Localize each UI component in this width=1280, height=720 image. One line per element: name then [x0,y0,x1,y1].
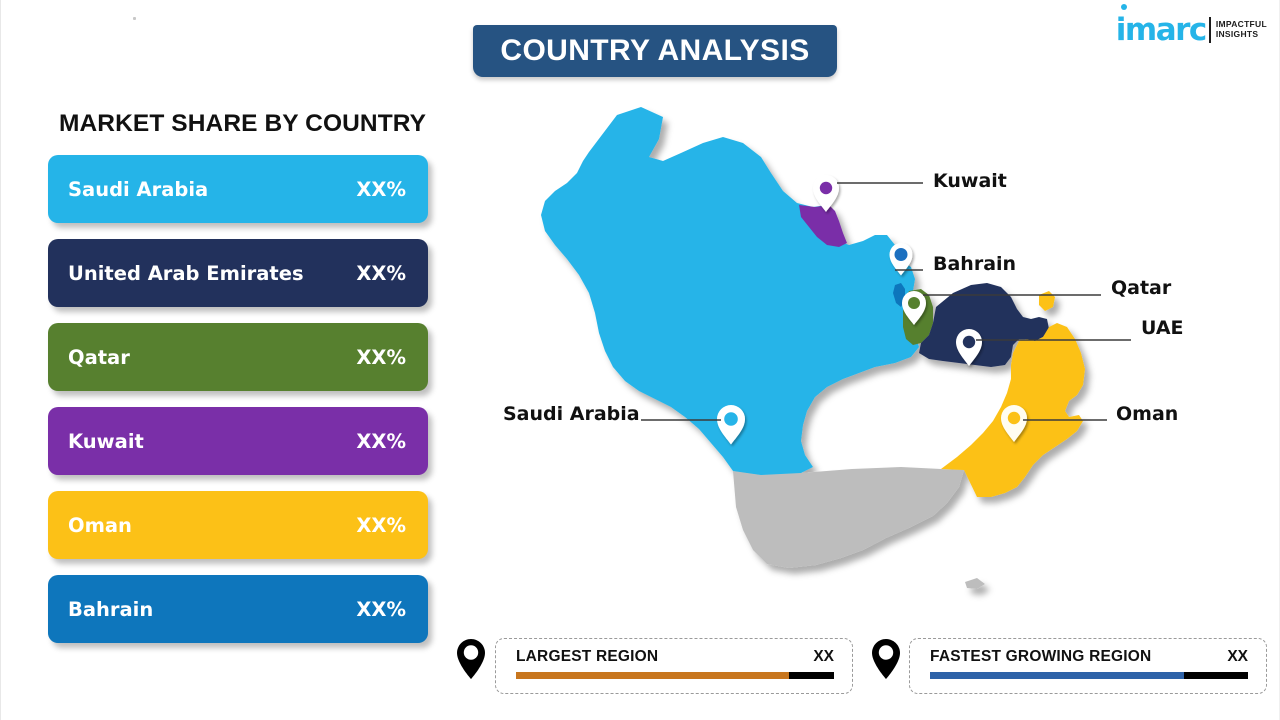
country-name: Oman [68,514,356,537]
fastest-growing-region-progress-fill [930,672,1184,679]
country-value: XX% [356,598,406,621]
country-bar-bahrain[interactable]: Bahrain XX% [48,575,428,643]
country-name: Qatar [68,346,356,369]
largest-region-progress-track [516,672,834,679]
map-label-saudi-arabia: Saudi Arabia [503,403,640,425]
fastest-growing-region-row: FASTEST GROWING REGION XX [930,648,1248,666]
country-bar-oman[interactable]: Oman XX% [48,491,428,559]
fastest-growing-region-box: FASTEST GROWING REGION XX [909,638,1267,694]
map-region-oman-musandam [1039,291,1055,311]
logo-divider [1209,17,1211,43]
map-label-oman: Oman [1116,403,1178,425]
largest-region-progress-fill [516,672,789,679]
largest-region-box: LARGEST REGION XX [495,638,853,694]
largest-region-row: LARGEST REGION XX [516,648,834,666]
country-value: XX% [356,262,406,285]
imarc-logo: imarc IMPACTFUL INSIGHTS [1116,10,1267,50]
fastest-growing-region-value: XX [1227,648,1248,666]
country-value: XX% [356,430,406,453]
page-title-banner: COUNTRY ANALYSIS [473,25,837,77]
largest-region-pin-icon [456,638,486,680]
country-bar-kuwait[interactable]: Kuwait XX% [48,407,428,475]
logo-tagline-line2: INSIGHTS [1216,30,1267,40]
map-region-yemen [733,467,964,568]
logo-wordmark: imarc [1116,15,1206,46]
fastest-growing-region-inner: FASTEST GROWING REGION XX [930,648,1248,679]
gcc-region-map: Kuwait Bahrain Qatar UAE Saudi Arabia Om… [471,95,1131,625]
country-name: United Arab Emirates [68,262,356,285]
largest-region-label: LARGEST REGION [516,648,658,666]
map-label-qatar: Qatar [1111,277,1171,299]
map-label-bahrain: Bahrain [933,253,1016,275]
largest-region-value: XX [813,648,834,666]
country-bar-united-arab-emirates[interactable]: United Arab Emirates XX% [48,239,428,307]
largest-region-inner: LARGEST REGION XX [516,648,834,679]
market-share-heading: MARKET SHARE BY COUNTRY [59,110,426,138]
fastest-growing-region-progress-track [930,672,1248,679]
stray-dot-artifact [133,17,136,20]
country-value: XX% [356,178,406,201]
country-value: XX% [356,514,406,537]
logo-dot-icon [1121,4,1127,10]
logo-tagline: IMPACTFUL INSIGHTS [1216,20,1267,39]
page-title: COUNTRY ANALYSIS [500,34,809,68]
infographic-canvas: COUNTRY ANALYSIS imarc IMPACTFUL INSIGHT… [0,0,1280,720]
country-name: Saudi Arabia [68,178,356,201]
map-label-kuwait: Kuwait [933,170,1007,192]
logo-wordmark-wrap: imarc [1116,15,1206,46]
country-name: Bahrain [68,598,356,621]
map-label-uae: UAE [1141,317,1184,339]
country-share-list: Saudi Arabia XX% United Arab Emirates XX… [48,155,428,659]
map-island-dot [965,578,985,589]
country-name: Kuwait [68,430,356,453]
country-bar-saudi-arabia[interactable]: Saudi Arabia XX% [48,155,428,223]
fastest-growing-region-pin-icon [871,638,901,680]
country-bar-qatar[interactable]: Qatar XX% [48,323,428,391]
country-value: XX% [356,346,406,369]
fastest-growing-region-label: FASTEST GROWING REGION [930,648,1151,666]
